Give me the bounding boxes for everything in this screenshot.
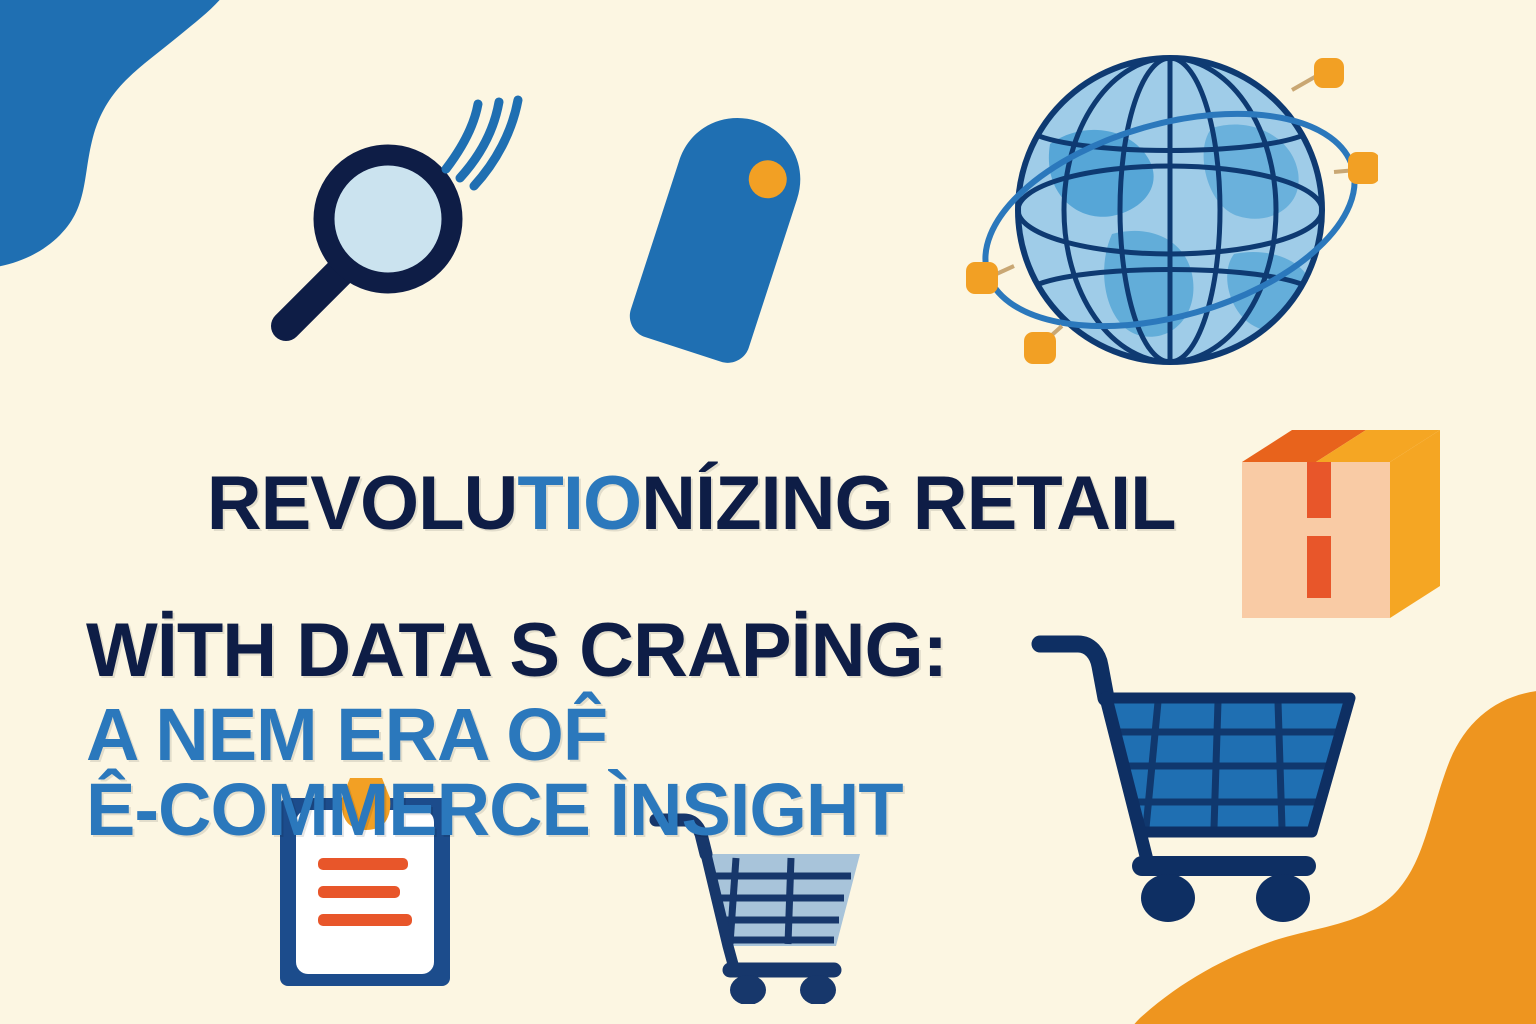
package-box-icon — [1218, 404, 1458, 634]
title-line-4: Ê-COMMERCE ÌNSIGHT — [86, 776, 1086, 845]
title-line-2: WİTH DATA S CRAPİNG: — [86, 616, 1086, 687]
title-seg-izing-retail: ÍZING RETAIL — [695, 461, 1176, 546]
title-line-3: A NEM ERA OF̂ — [86, 701, 1086, 770]
magnifier-icon — [268, 74, 524, 342]
title-seg-n: N — [641, 461, 695, 546]
title-seg-revolu: REVOLU — [207, 461, 518, 546]
poster-canvas: REVOLUTIONÍZING RETAIL WİTH DATA S CRAPİ… — [0, 0, 1536, 1024]
title-line-1: REVOLUTIONÍZING RETAIL — [86, 398, 1086, 610]
poster-title-block: REVOLUTIONÍZING RETAIL WİTH DATA S CRAPİ… — [86, 398, 1086, 844]
title-seg-tio: TIO — [517, 461, 641, 546]
price-tag-icon — [596, 104, 836, 366]
decorative-blob-topleft — [0, 0, 310, 300]
globe-icon — [962, 24, 1378, 396]
